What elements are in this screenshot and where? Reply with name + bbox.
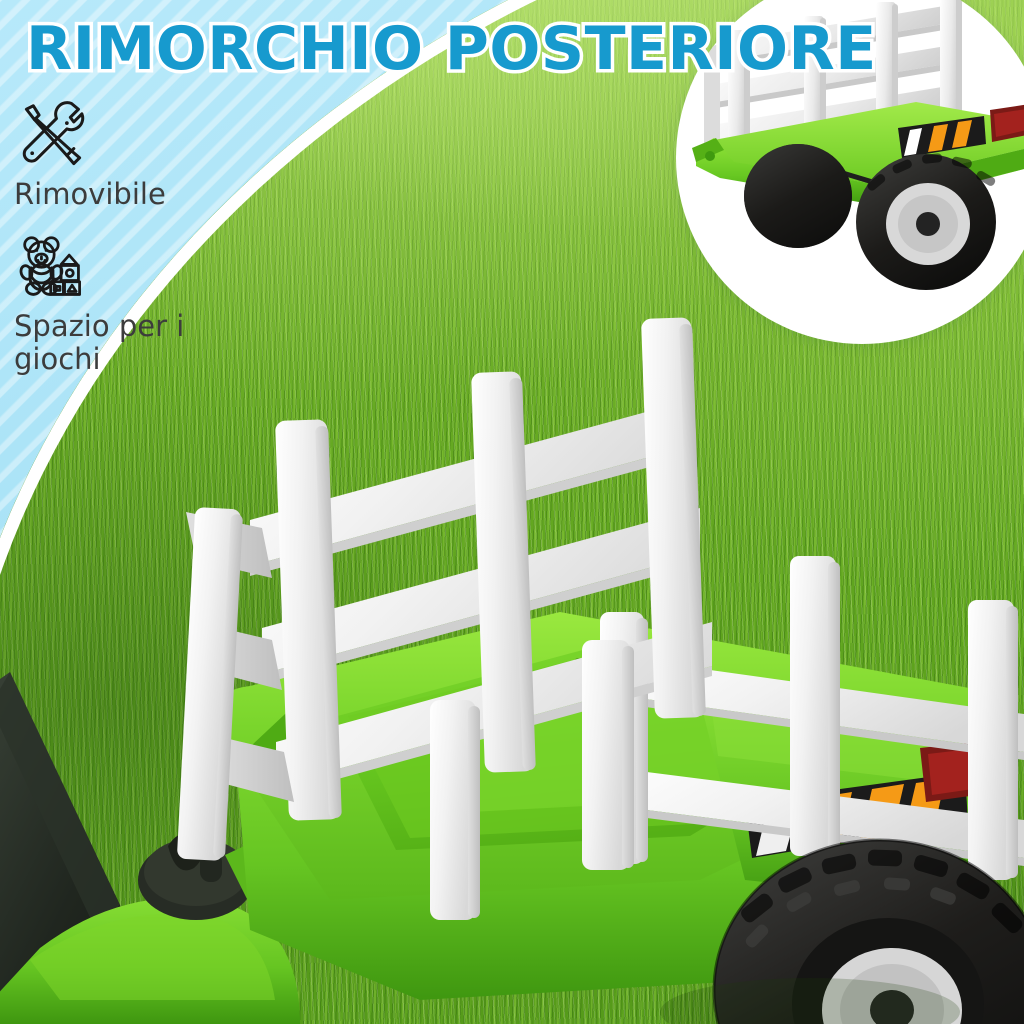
feature-label-play-space: Spazio per i giochi (14, 310, 246, 375)
feature-list: Rimovibile (14, 100, 284, 393)
feature-item-play-space: Spazio per i giochi (14, 232, 284, 375)
inset-reflector (990, 104, 1024, 142)
teddy-bear-blocks-icon (14, 232, 92, 306)
feature-item-removable: Rimovibile (14, 100, 284, 210)
product-poster: RIMORCHIO POSTERIORE Rimovibile (0, 0, 1024, 1024)
wrench-screwdriver-icon (14, 100, 92, 174)
page-title: RIMORCHIO POSTERIORE (26, 18, 926, 80)
inset-wheel-far (744, 144, 852, 248)
feature-label-removable: Rimovibile (14, 178, 246, 210)
